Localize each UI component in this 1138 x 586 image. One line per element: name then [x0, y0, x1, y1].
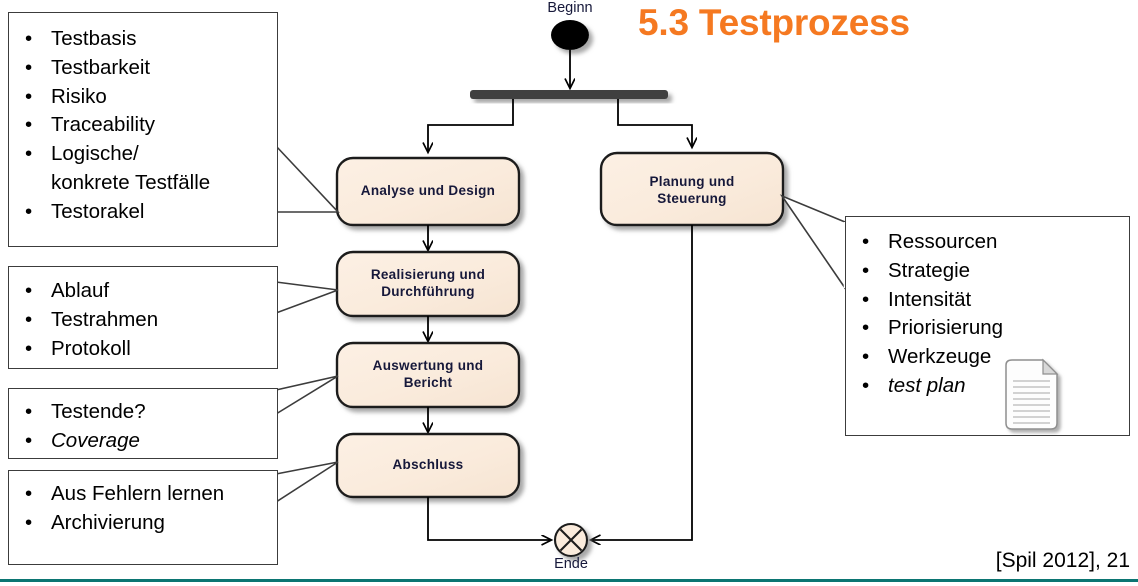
list-item: •Aus Fehlern lernen	[9, 480, 277, 509]
edge-fork-to-planung	[618, 99, 692, 147]
note-box-abschluss[interactable]: •Aus Fehlern lernen •Archivierung	[8, 470, 278, 565]
fork-bar	[470, 90, 668, 99]
list-item: •Testende?	[9, 398, 277, 427]
activity-abschluss[interactable]	[337, 434, 519, 497]
edge-fork-to-analyse	[428, 99, 513, 152]
list-item: •Testbarkeit	[9, 54, 277, 83]
list-item: •Intensität	[846, 286, 1129, 315]
document-icon	[1003, 357, 1065, 435]
list-item: •Testbasis	[9, 25, 277, 54]
list-item: •Traceability	[9, 111, 277, 140]
note-list-abschluss: •Aus Fehlern lernen •Archivierung	[9, 480, 277, 538]
list-item-label: Testende?	[51, 400, 146, 423]
list-item-label: Testbasis	[51, 27, 136, 50]
bullet-glyph: •	[25, 111, 32, 140]
note-list-realisierung: •Ablauf •Testrahmen •Protokoll	[9, 277, 277, 363]
list-item-label: Archivierung	[51, 511, 165, 534]
bullet-glyph: •	[25, 480, 32, 509]
list-item-label: Testbarkeit	[51, 56, 150, 79]
list-item: •Protokoll	[9, 335, 277, 364]
list-item-label: Werkzeuge	[888, 345, 991, 368]
list-item-label: Priorisierung	[888, 316, 1003, 339]
bullet-glyph: •	[25, 54, 32, 83]
bullet-glyph: •	[25, 335, 32, 364]
activity-realisierung-und-durchfuehrung[interactable]	[337, 252, 519, 316]
bullet-glyph: •	[25, 306, 32, 335]
note-list-auswertung: •Testende? •Coverage	[9, 398, 277, 456]
list-item-label: Aus Fehlern lernen	[51, 482, 224, 505]
list-item: •Logische/	[9, 140, 277, 169]
bullet-glyph: •	[25, 277, 32, 306]
note-box-planung[interactable]: •Ressourcen •Strategie •Intensität •Prio…	[845, 216, 1130, 436]
list-item-label: Testrahmen	[51, 308, 158, 331]
list-item-label: Testorakel	[51, 200, 144, 223]
list-item-label: Strategie	[888, 259, 970, 282]
activity-auswertung-und-bericht[interactable]	[337, 343, 519, 407]
bullet-glyph: •	[862, 314, 869, 343]
bullet-glyph: •	[862, 372, 869, 401]
note-box-realisierung[interactable]: •Ablauf •Testrahmen •Protokoll	[8, 266, 278, 369]
list-item: •Strategie	[846, 257, 1129, 286]
list-item-label: test plan	[888, 374, 966, 397]
bullet-glyph: •	[862, 286, 869, 315]
edge-abschluss-to-ende	[428, 497, 551, 540]
list-item: •Coverage	[9, 427, 277, 456]
bullet-glyph: •	[25, 398, 32, 427]
bullet-glyph: •	[25, 427, 32, 456]
edge-planung-to-ende	[591, 225, 692, 540]
list-item: •Ablauf	[9, 277, 277, 306]
bullet-glyph: •	[25, 198, 32, 227]
list-item: •Werkzeuge	[846, 343, 1129, 372]
bullet-glyph: •	[862, 228, 869, 257]
end-node	[555, 524, 587, 556]
list-item-label: Logische/	[51, 142, 139, 165]
list-item-label: Intensität	[888, 288, 971, 311]
note-list-planung: •Ressourcen •Strategie •Intensität •Prio…	[846, 228, 1129, 401]
activity-analyse-und-design[interactable]	[337, 158, 519, 225]
start-node	[551, 20, 589, 50]
note-box-analyse[interactable]: •Testbasis •Testbarkeit •Risiko •Traceab…	[8, 12, 278, 247]
bullet-glyph: •	[25, 140, 32, 169]
list-item-label: Ressourcen	[888, 230, 997, 253]
list-item: •Risiko	[9, 83, 277, 112]
list-item: •Testorakel	[9, 198, 277, 227]
note-list-analyse: •Testbasis •Testbarkeit •Risiko •Traceab…	[9, 25, 277, 227]
list-item: •Ressourcen	[846, 228, 1129, 257]
list-item-label: Protokoll	[51, 337, 131, 360]
list-item-label: Risiko	[51, 85, 107, 108]
list-item-label: Ablauf	[51, 279, 109, 302]
list-item: •test plan	[846, 372, 1129, 401]
list-item-label: Traceability	[51, 113, 155, 136]
bullet-glyph: •	[25, 25, 32, 54]
list-item-continuation: •konkrete Testfälle	[9, 169, 277, 198]
list-item-label: konkrete Testfälle	[51, 171, 210, 194]
list-item-label: Coverage	[51, 429, 140, 452]
activity-planung-und-steuerung[interactable]	[601, 153, 783, 225]
note-box-auswertung[interactable]: •Testende? •Coverage	[8, 388, 278, 459]
list-item: •Priorisierung	[846, 314, 1129, 343]
bullet-glyph: •	[862, 343, 869, 372]
bullet-glyph: •	[25, 83, 32, 112]
bullet-glyph: •	[862, 257, 869, 286]
list-item: •Testrahmen	[9, 306, 277, 335]
list-item: •Archivierung	[9, 509, 277, 538]
bullet-glyph: •	[25, 509, 32, 538]
